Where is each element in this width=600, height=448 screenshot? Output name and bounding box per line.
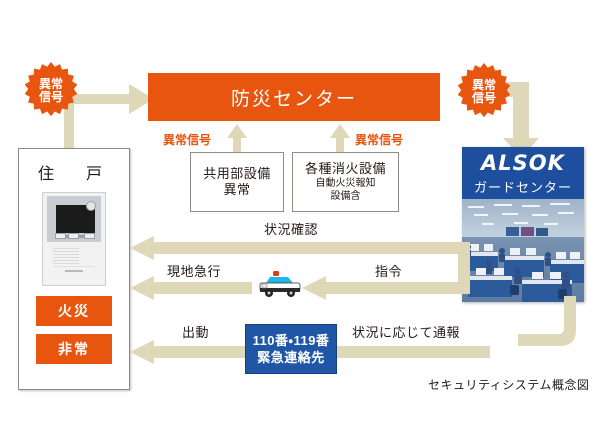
security-system-diagram: 異常 信号 防災センター 異常 信号 異常信号 異常信号 共用部設備 異常 各種… [0,0,600,448]
spec-box-common-equipment: 共用部設備 異常 [190,152,284,212]
badge-abnormal-signal-right: 異常 信号 [455,63,513,121]
arrow-command [302,276,470,300]
patrol-car-icon [256,268,306,300]
guard-center-header: ALSOK ガードセンター [462,147,584,199]
dwelling-button-fire-label: 火災 [58,301,90,321]
signal-label-left: 異常信号 [163,131,211,148]
intercom-dial-icon [86,201,96,211]
intercom-nameplate [53,266,95,279]
intercom-unit-image [42,192,106,286]
flow-label-report: 状況に応じて通報 [352,322,460,341]
spec-box-fire-equipment: 各種消火設備 自動火災報知 設備含 [292,152,399,212]
center-title: 防災センター [231,84,357,111]
dwelling-button-fire[interactable]: 火災 [36,296,112,326]
alsok-logo: ALSOK [481,151,565,175]
badge-line2: 信号 [472,92,496,105]
emergency-line1: 110番・119番 [253,332,330,349]
emergency-line2: 緊急連絡先 [257,349,325,366]
guard-center-panel: ALSOK ガードセンター [462,147,584,302]
intercom-monitor-housing [47,196,101,242]
disaster-prevention-center-header: 防災センター [148,73,440,121]
intercom-button-2 [68,233,79,239]
arrow-up-right [329,124,351,154]
dwelling-button-emergency[interactable]: 非常 [36,334,112,364]
spec-line2: 異常 [223,182,250,198]
signal-label-right: 異常信号 [355,131,403,148]
arrow-up-left [226,124,248,154]
spec-line2: 自動火災報知 [316,177,376,190]
dwelling-title: 住 戸 [19,160,129,184]
badge-abnormal-signal-left: 異常 信号 [22,62,80,120]
badge-line2: 信号 [39,91,63,104]
diagram-caption: セキュリティシステム概念図 [428,376,589,393]
monitoring-room-photo [462,199,584,302]
arrow-dispatch-site [130,276,252,300]
emergency-contact-box: 110番・119番 緊急連絡先 [246,325,336,373]
intercom-speaker-grille [53,248,79,264]
guard-center-subtitle: ガードセンター [474,177,572,196]
spec-line1: 共用部設備 [203,166,271,182]
connector-guard-to-bottom-row [518,296,586,356]
flow-label-mobilize: 出動 [182,322,209,341]
spec-line1: 各種消火設備 [305,161,386,177]
dwelling-button-emergency-label: 非常 [58,339,90,359]
intercom-button-1 [55,233,66,239]
intercom-button-3 [84,233,95,239]
dwelling-panel: 住 戸 火災 非常 [18,148,130,390]
arrow-status-check [130,236,470,260]
spec-line3: 設備含 [331,190,361,203]
